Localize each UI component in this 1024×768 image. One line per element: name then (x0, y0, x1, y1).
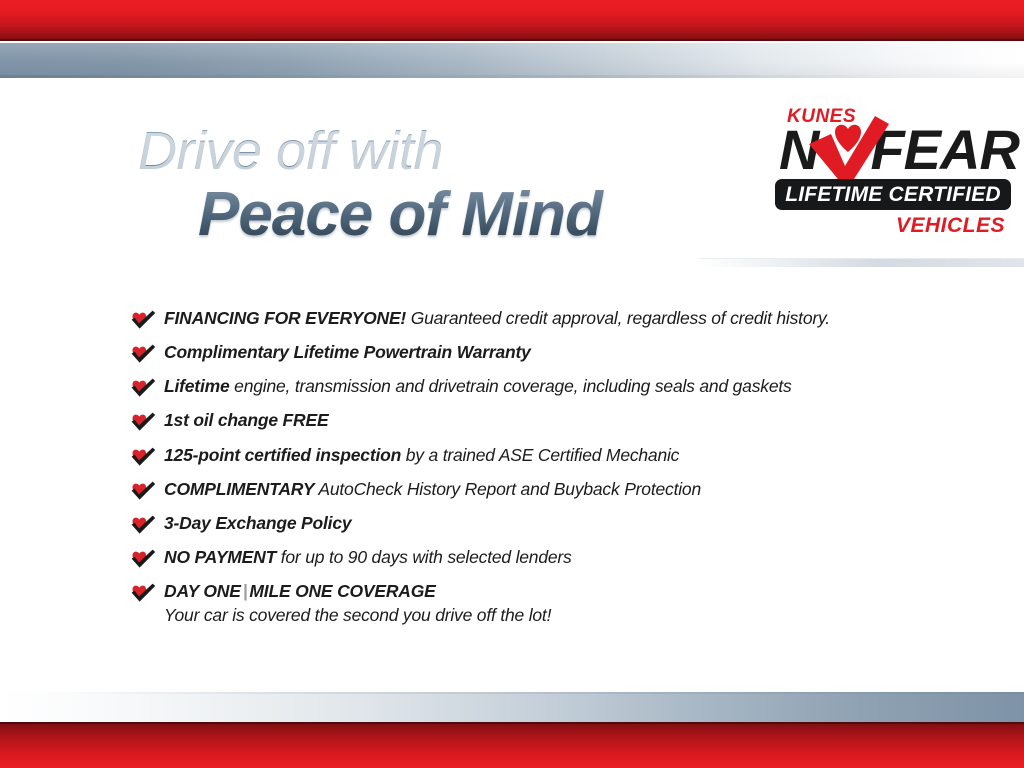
list-item: FINANCING FOR EVERYONE! Guaranteed credi… (130, 308, 930, 329)
list-item-rest: AutoCheck History Report and Buyback Pro… (314, 479, 701, 499)
advertisement-poster: Drive off with Peace of Mind KUNES NFEAR… (0, 0, 1024, 768)
top-gray-banner (0, 43, 1024, 78)
list-item-bold: 125-point certified inspection (164, 445, 401, 465)
headline-line-1: Drive off with (138, 124, 718, 178)
list-item-bold: 3-Day Exchange Policy (164, 513, 351, 533)
list-item-bold: 1st oil change FREE (164, 410, 328, 430)
list-item: 1st oil change FREE (130, 410, 930, 431)
heart-check-icon (130, 309, 156, 330)
headline-line-2: Peace of Mind (198, 182, 718, 247)
list-item-rest: Guaranteed credit approval, regardless o… (406, 308, 830, 328)
headline-divider (700, 258, 1024, 267)
benefits-list: FINANCING FOR EVERYONE! Guaranteed credi… (130, 308, 930, 626)
heart-check-icon (130, 411, 156, 432)
bottom-red-banner (0, 722, 1024, 768)
list-item-bold: FINANCING FOR EVERYONE! (164, 308, 406, 328)
list-item-bold: Complimentary Lifetime Powertrain Warran… (164, 342, 531, 362)
top-red-banner (0, 0, 1024, 41)
logo-lifetime-certified-bar: LIFETIME CERTIFIED (775, 179, 1011, 210)
logo-lifetime-certified-text: LIFETIME CERTIFIED (785, 183, 1001, 207)
heart-check-icon (130, 343, 156, 364)
list-item: NO PAYMENT for up to 90 days with select… (130, 547, 930, 568)
heart-check-icon (130, 582, 156, 603)
list-item: Lifetime engine, transmission and drivet… (130, 376, 930, 397)
list-item-bold: COMPLIMENTARY (164, 479, 314, 499)
heart-check-icon (130, 377, 156, 398)
list-item-rest: by a trained ASE Certified Mechanic (401, 445, 679, 465)
heart-check-icon (130, 514, 156, 535)
list-item-rest: engine, transmission and drivetrain cove… (230, 376, 792, 396)
heart-check-icon (130, 548, 156, 569)
list-item-bold: NO PAYMENT (164, 547, 276, 567)
list-item: 125-point certified inspection by a trai… (130, 445, 930, 466)
bottom-gray-banner (0, 692, 1024, 722)
heart-check-icon (130, 480, 156, 501)
headline: Drive off with Peace of Mind (138, 124, 718, 247)
list-item-bold: Lifetime (164, 376, 230, 396)
list-item-subline: Your car is covered the second you drive… (130, 605, 930, 626)
logo-vehicles-text: VEHICLES (896, 214, 1005, 238)
list-item: 3-Day Exchange Policy (130, 513, 930, 534)
list-item: Complimentary Lifetime Powertrain Warran… (130, 342, 930, 363)
kunes-no-fear-logo: KUNES NFEAR LIFETIME CERTIFIED VEHICLES (775, 106, 1013, 251)
heart-check-icon (130, 446, 156, 467)
list-item-bold-2: MILE ONE COVERAGE (249, 581, 435, 601)
list-item: COMPLIMENTARY AutoCheck History Report a… (130, 479, 930, 500)
list-item-bold: DAY ONE (164, 581, 241, 601)
list-item: DAY ONE|MILE ONE COVERAGE (130, 581, 930, 602)
list-item-rest: for up to 90 days with selected lenders (276, 547, 572, 567)
logo-word-fear: FEAR (870, 118, 1018, 181)
